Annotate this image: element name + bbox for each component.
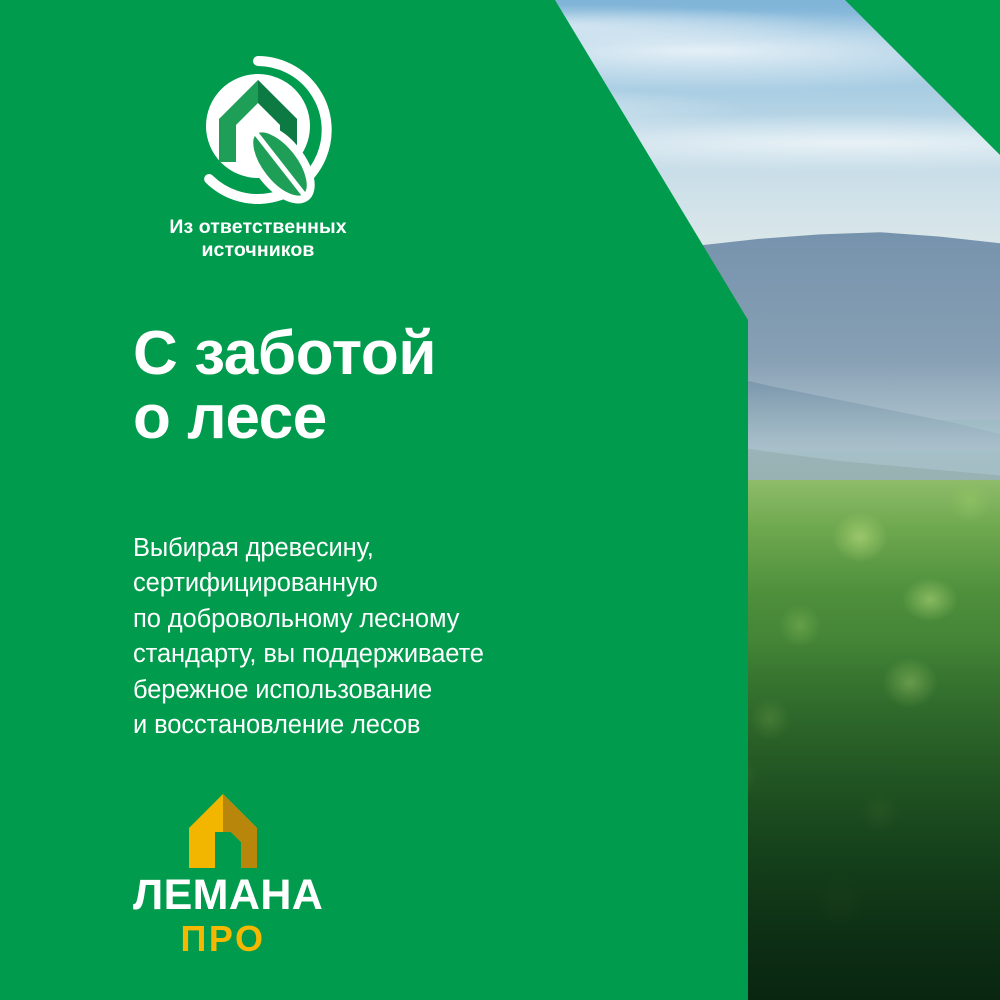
body-copy: Выбирая древесину, сертифицированную по … [133,531,484,744]
certification-caption: Из ответственных источников [133,216,383,262]
certification-badge: Из ответственных источников [133,56,383,262]
brand-name: ЛЕМАНА [133,874,313,917]
lemana-house-icon [187,792,259,870]
brand-sub-name: ПРО [133,921,313,957]
responsible-sources-icon [184,56,332,204]
poster: Из ответственных источников С заботой о … [0,0,1000,1000]
brand-logo: ЛЕМАНА ПРО [133,792,313,957]
page-title: С заботой о лесе [133,322,436,450]
